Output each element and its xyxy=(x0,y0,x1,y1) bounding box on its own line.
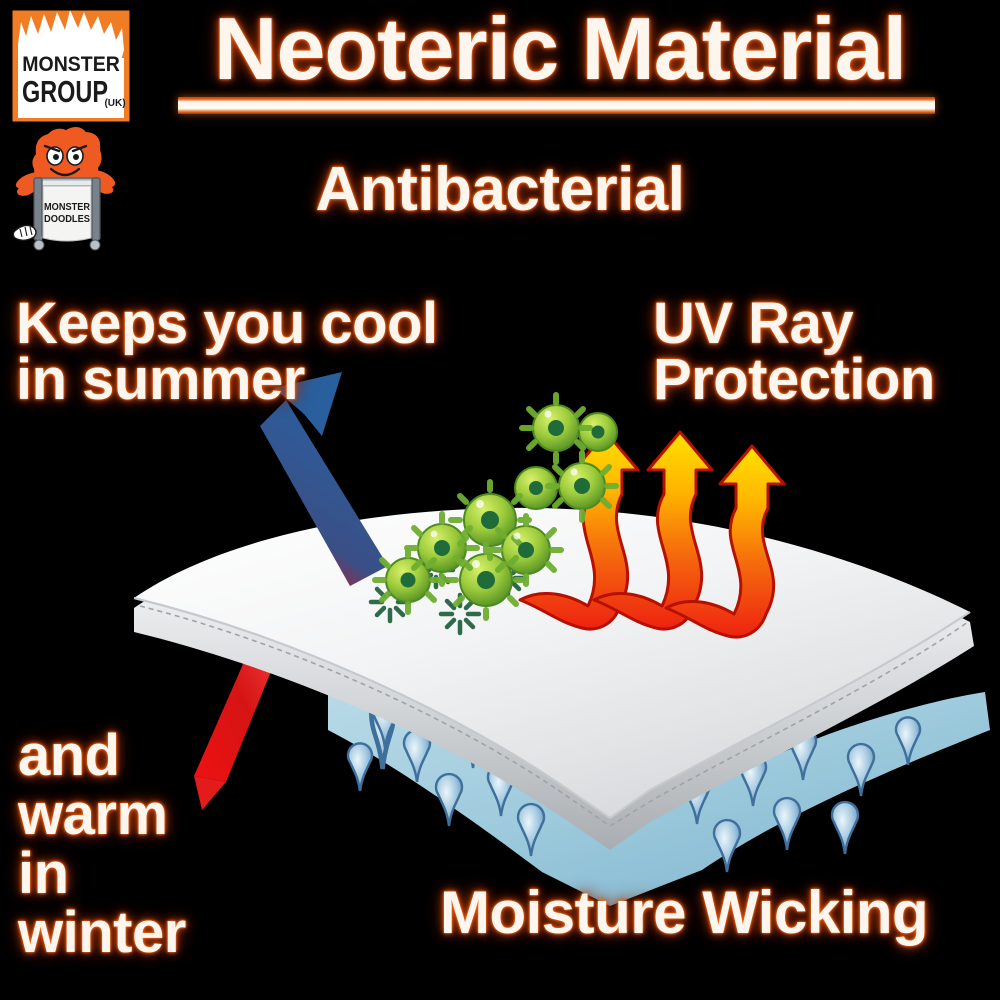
feature-moisture-wicking: Moisture Wicking xyxy=(440,884,928,942)
monster-group-logo-icon: MONSTER GROUP (UK) xyxy=(12,10,130,122)
fabric-cutaway-illustration xyxy=(90,370,990,910)
title-underline-bar xyxy=(178,97,935,114)
poster-canvas: MONSTER GROUP (UK) xyxy=(0,0,1000,1000)
fabric-diagram xyxy=(90,370,990,910)
subtitle-antibacterial: Antibacterial xyxy=(180,160,820,220)
feature-warm-in-winter: and warm in winter xyxy=(18,726,186,963)
feature-uv-ray-protection: UV Ray Protection xyxy=(653,296,935,409)
monster-group-line2: GROUP xyxy=(22,74,108,109)
monster-group-line1: MONSTER xyxy=(22,52,120,76)
monster-group-logo: MONSTER GROUP (UK) xyxy=(12,10,130,122)
feature-keeps-you-cool: Keeps you cool in summer xyxy=(16,296,438,409)
monster-doodles-logo: MONSTER DOODLES xyxy=(6,126,126,254)
monster-doodles-line2: DOODLES xyxy=(44,213,90,225)
page-title: Neoteric Material xyxy=(176,6,944,91)
monster-group-suffix: (UK) xyxy=(104,98,125,109)
monster-doodles-logo-icon: MONSTER DOODLES xyxy=(6,126,126,254)
monster-doodles-line1: MONSTER xyxy=(44,201,90,213)
